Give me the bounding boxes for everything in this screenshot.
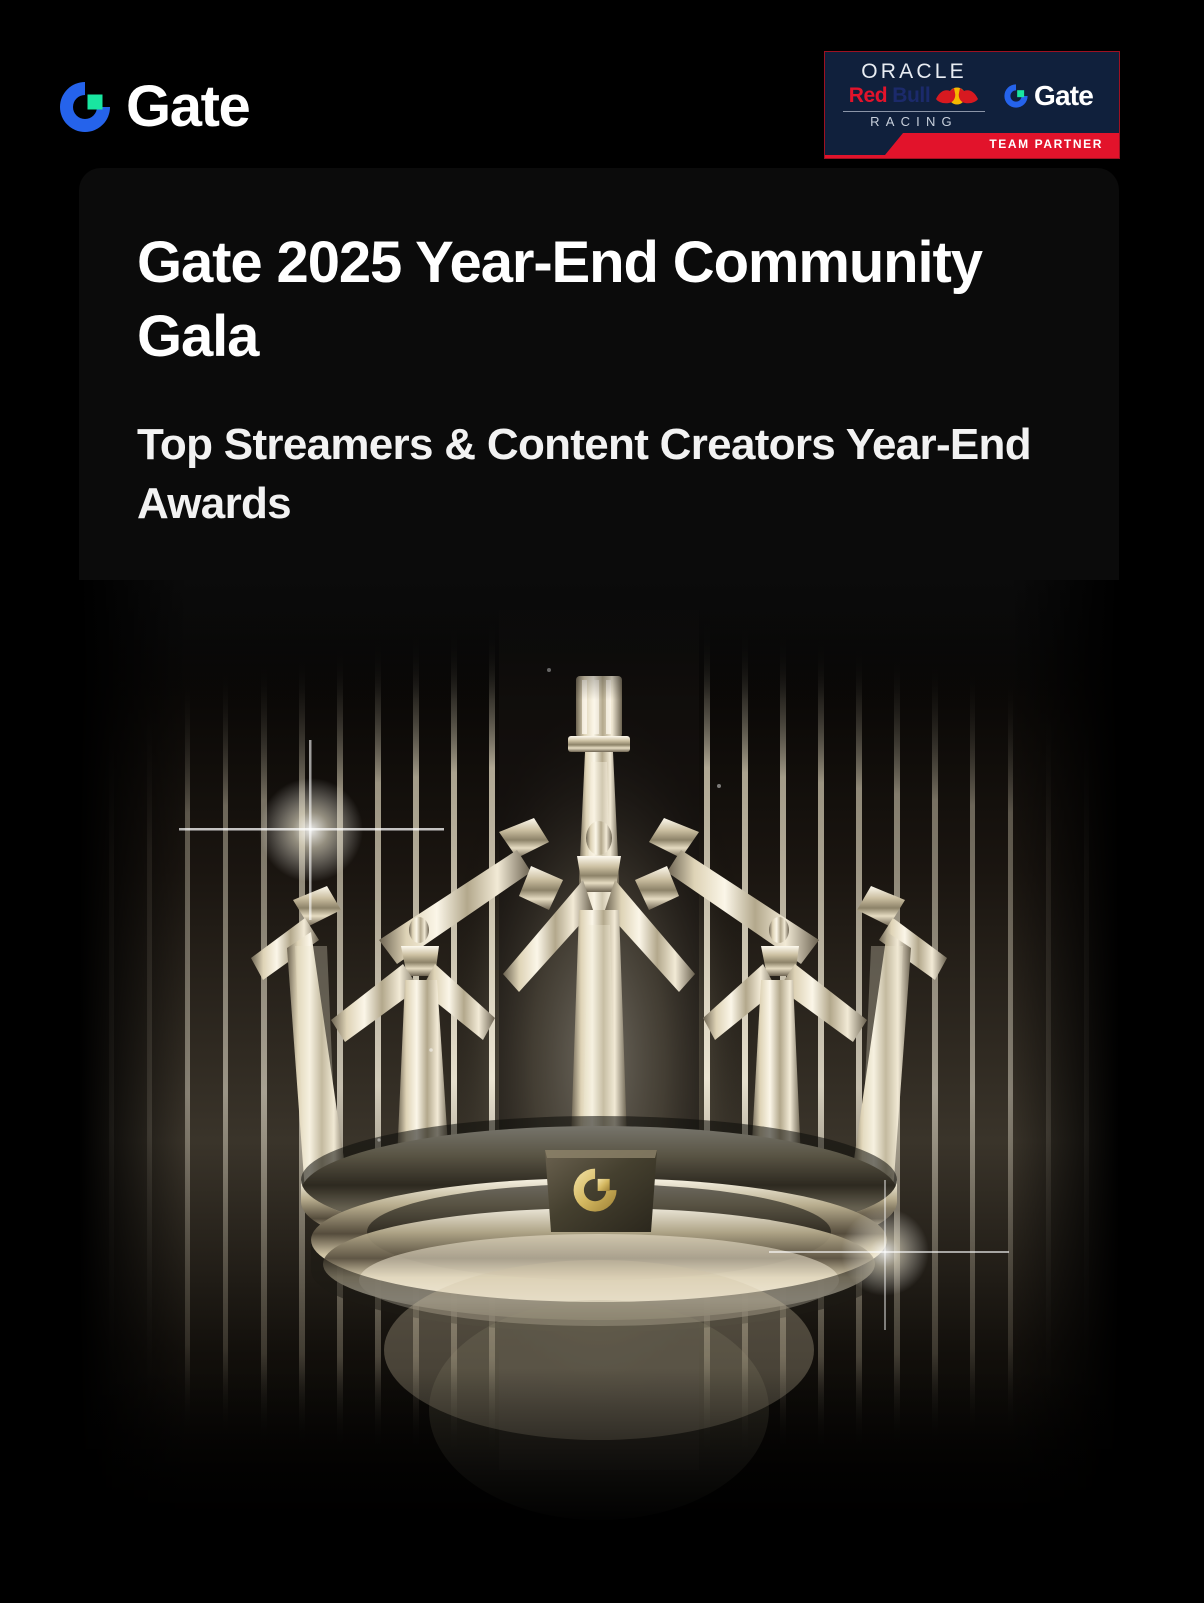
team-partner-strip: TEAM PARTNER: [825, 133, 1120, 158]
announcement-card: Gate 2025 Year-End Community Gala Top St…: [79, 168, 1119, 1548]
racing-wordmark: RACING: [839, 114, 989, 129]
badge-gate-logo: Gate: [1003, 80, 1093, 112]
red-bull-racing-partner-badge[interactable]: ORACLE Red Bull RACING: [824, 51, 1120, 159]
crown-trophy-image: [79, 580, 1119, 1548]
page-header: Gate ORACLE Red Bull RACIN: [0, 0, 1204, 168]
oracle-red-bull-racing-lockup: ORACLE Red Bull RACING: [839, 61, 989, 129]
oracle-wordmark: ORACLE: [839, 61, 989, 83]
team-partner-label: TEAM PARTNER: [989, 137, 1103, 151]
red-word: Red: [849, 84, 887, 108]
badge-divider: [843, 111, 985, 112]
page-title: Gate 2025 Year-End Community Gala: [137, 226, 1037, 374]
crown-gate-plaque: [545, 1150, 657, 1232]
page-subtitle: Top Streamers & Content Creators Year-En…: [137, 416, 1037, 532]
red-bull-charging-bulls-icon: [935, 86, 979, 106]
red-bull-wordmark: Red Bull: [839, 84, 989, 108]
card-heading-block: Gate 2025 Year-End Community Gala Top St…: [79, 168, 1119, 533]
badge-gate-name: Gate: [1034, 80, 1093, 112]
bull-word: Bull: [892, 84, 930, 108]
page-root: Gate ORACLE Red Bull RACIN: [0, 0, 1204, 1603]
gate-logo-icon: [1003, 83, 1029, 109]
brand-logo[interactable]: Gate: [57, 78, 249, 136]
gate-logo-icon: [57, 79, 113, 135]
brand-name: Gate: [126, 78, 249, 136]
